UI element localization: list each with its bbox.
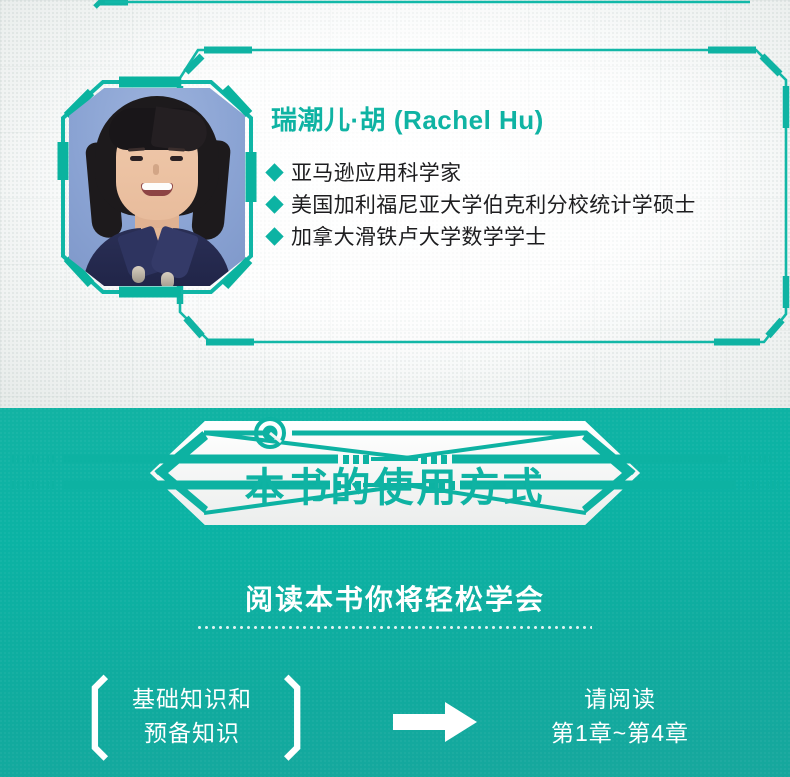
list-item: 亚马逊应用科学家 <box>268 158 760 189</box>
arrow-right-icon <box>393 700 479 744</box>
usage-subheading: 阅读本书你将轻松学会 <box>0 578 790 618</box>
previous-card-frame-partial <box>0 0 790 16</box>
profile-name: 瑞潮儿·胡 (Rachel Hu) <box>271 100 544 137</box>
flow-source-label: 基础知识和 预备知识 <box>102 682 282 750</box>
diamond-bullet-icon <box>265 195 283 213</box>
dotted-divider <box>198 626 592 629</box>
list-item-label: 加拿大滑铁卢大学数学学士 <box>291 222 547 253</box>
page-title: 本书的使用方式 <box>0 455 790 513</box>
avatar-photo <box>69 88 245 286</box>
list-item: 美国加利福尼亚大学伯克利分校统计学硕士 <box>268 190 760 221</box>
list-item-label: 亚马逊应用科学家 <box>291 158 461 189</box>
flow-source-line2: 预备知识 <box>102 716 282 750</box>
flow-target-line2: 第1章~第4章 <box>490 716 750 750</box>
avatar <box>57 76 257 298</box>
flow-target-label: 请阅读 第1章~第4章 <box>490 682 750 750</box>
poster-page: 瑞潮儿·胡 (Rachel Hu) 亚马逊应用科学家 美国加利福尼亚大学伯克利分… <box>0 0 790 777</box>
list-item-label: 美国加利福尼亚大学伯克利分校统计学硕士 <box>291 190 696 221</box>
list-item: 加拿大滑铁卢大学数学学士 <box>268 222 760 253</box>
flow-source-line1: 基础知识和 <box>102 682 282 716</box>
diamond-bullet-icon <box>265 227 283 245</box>
profile-credentials-list: 亚马逊应用科学家 美国加利福尼亚大学伯克利分校统计学硕士 加拿大滑铁卢大学数学学… <box>268 158 760 254</box>
diamond-bullet-icon <box>265 163 283 181</box>
flow-target-line1: 请阅读 <box>490 682 750 716</box>
